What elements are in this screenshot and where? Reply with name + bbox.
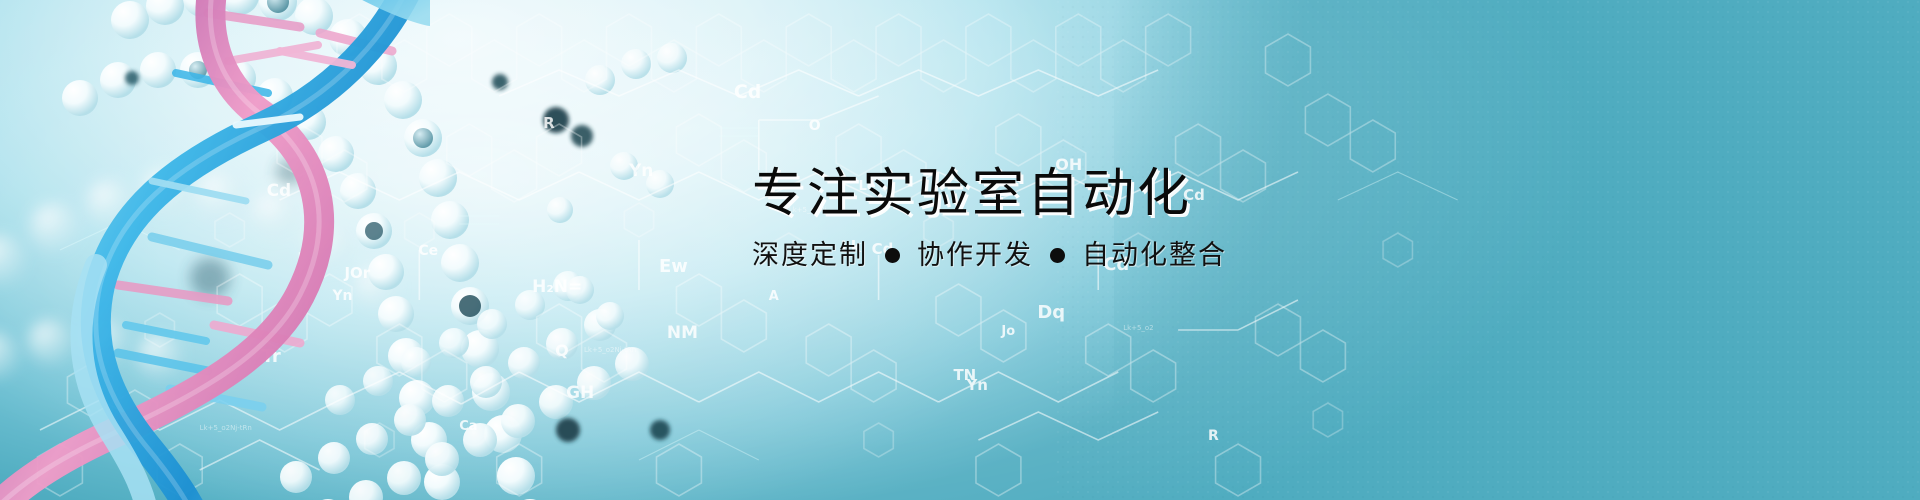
svg-text:R: R [1208, 428, 1219, 444]
subtitle-part-2: 协作开发 [917, 242, 1033, 269]
svg-text:A: A [769, 289, 779, 304]
dna-double-helix-graphic [0, 0, 430, 500]
svg-text:Dq: Dq [1037, 302, 1065, 323]
page-title: 专注实验室自动化 [752, 168, 1452, 220]
svg-text:H₂N=: H₂N= [532, 277, 582, 297]
hero-text-block: 专注实验室自动化 深度定制 协作开发 自动化整合 [752, 168, 1452, 269]
svg-text:Lk+5_o2: Lk+5_o2 [1123, 324, 1153, 332]
svg-text:Yn: Yn [965, 376, 987, 394]
svg-text:Q: Q [555, 341, 569, 360]
subtitle-part-1: 深度定制 [752, 242, 868, 269]
svg-text:R: R [543, 114, 555, 132]
subtitle-part-3: 自动化整合 [1082, 242, 1227, 269]
svg-text:Cd: Cd [734, 81, 761, 103]
svg-text:GH: GH [566, 383, 594, 403]
hero-banner: Cd Yn Ew Lk NM GH Dq R TN Tr Q H₂N= OH C… [0, 0, 1920, 500]
svg-text:Lk+5_o2Nj-tRn: Lk+5_o2Nj-tRn [584, 346, 636, 354]
svg-text:Ca: Ca [459, 419, 477, 434]
svg-text:Jo: Jo [1000, 324, 1015, 339]
svg-text:NM: NM [667, 323, 698, 343]
hero-subtitle: 深度定制 协作开发 自动化整合 [752, 242, 1452, 269]
svg-text:O: O [809, 118, 821, 134]
svg-text:Ew: Ew [659, 256, 688, 277]
bullet-separator-icon [1050, 248, 1065, 263]
svg-text:Yn: Yn [628, 161, 653, 181]
bullet-separator-icon [885, 248, 900, 263]
